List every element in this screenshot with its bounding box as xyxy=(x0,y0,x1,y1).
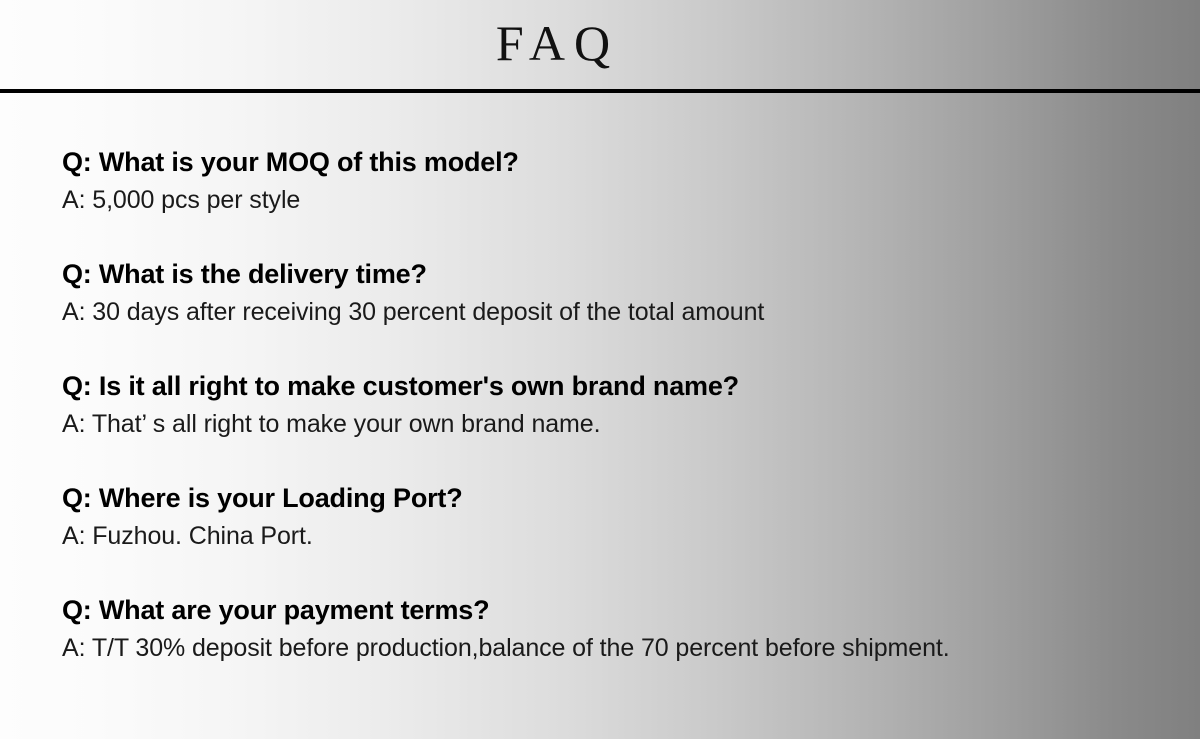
faq-question: Q: What is the delivery time? xyxy=(62,255,1062,293)
faq-question: Q: What are your payment terms? xyxy=(62,591,1062,629)
faq-answer: A: T/T 30% deposit before production,bal… xyxy=(62,629,1062,667)
faq-question: Q: Is it all right to make customer's ow… xyxy=(62,367,1062,405)
faq-list: Q: What is your MOQ of this model? A: 5,… xyxy=(62,143,1062,667)
faq-question: Q: What is your MOQ of this model? xyxy=(62,143,1062,181)
faq-answer: A: 5,000 pcs per style xyxy=(62,181,1062,219)
header-divider-rule xyxy=(0,89,1200,93)
page-title: FAQ xyxy=(0,18,1115,68)
faq-question: Q: Where is your Loading Port? xyxy=(62,479,1062,517)
faq-page: FAQ Q: What is your MOQ of this model? A… xyxy=(0,0,1200,739)
faq-item: Q: Is it all right to make customer's ow… xyxy=(62,367,1062,443)
faq-answer: A: Fuzhou. China Port. xyxy=(62,517,1062,555)
faq-answer: A: That’ s all right to make your own br… xyxy=(62,405,1062,443)
faq-item: Q: Where is your Loading Port? A: Fuzhou… xyxy=(62,479,1062,555)
title-area: FAQ xyxy=(0,0,1200,91)
faq-item: Q: What is the delivery time? A: 30 days… xyxy=(62,255,1062,331)
faq-item: Q: What is your MOQ of this model? A: 5,… xyxy=(62,143,1062,219)
faq-item: Q: What are your payment terms? A: T/T 3… xyxy=(62,591,1062,667)
faq-answer: A: 30 days after receiving 30 percent de… xyxy=(62,293,1062,331)
